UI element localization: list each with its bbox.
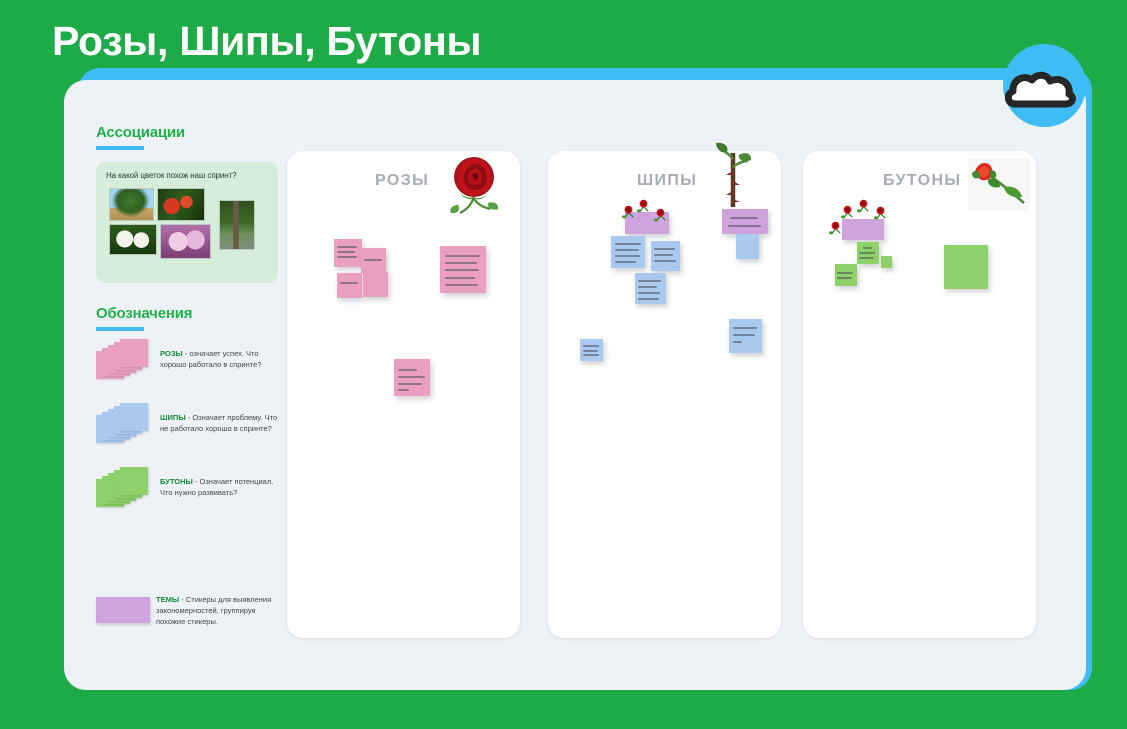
thorn-stem-icon [713,141,753,207]
legend-section: Обозначения РОЗЫ - означает успех. Что х… [96,305,286,637]
note-roses-5[interactable] [440,246,486,293]
sidebar: Ассоциации На какой цветок похож наш спр… [96,124,286,637]
legend-themes-term: ТЕМЫ [156,595,179,604]
associations-heading: Ассоциации [96,124,286,141]
themes-sticky-icon [96,597,150,623]
rose-icon [446,153,502,215]
note-buds-1[interactable] [857,242,879,264]
photo-park-tree[interactable] [219,200,255,250]
legend-buds-text: БУТОНЫ - Означает потенциал. Что нужно р… [154,465,278,499]
column-thorns-title: ШИПЫ [637,172,697,190]
legend-roses-text: РОЗЫ - означает успех. Что хорошо работа… [154,337,278,371]
note-roses-2[interactable] [361,248,386,273]
legend-item-roses: РОЗЫ - означает успех. Что хорошо работа… [96,337,286,395]
rose-decoration-icon [621,204,636,219]
photo-red-bromeliad[interactable] [157,188,205,221]
rose-decoration-icon [653,207,668,222]
theme-card-thorns-2[interactable] [722,209,768,234]
associations-section: Ассоциации На какой цветок похож наш спр… [96,124,286,283]
legend-item-thorns: ШИПЫ - Означает проблему. Что не работал… [96,401,286,459]
column-buds-title: БУТОНЫ [883,172,962,190]
associations-question: На какой цветок похож наш спринт? [106,171,268,180]
note-thorns-1[interactable] [611,236,645,268]
column-roses-title: РОЗЫ [375,172,429,190]
note-thorns-4[interactable] [736,234,759,259]
legend-item-themes: ТЕМЫ - Стикеры для выявления закономерно… [96,591,286,637]
associations-heading-rule [96,146,144,150]
column-roses[interactable]: РОЗЫ [287,151,520,638]
note-thorns-6[interactable] [729,319,762,353]
legend-thorns-term: ШИПЫ [160,413,186,422]
photo-tree[interactable] [109,188,154,221]
note-roses-6[interactable] [394,359,430,396]
legend-thorns-text: ШИПЫ - Означает проблему. Что не работал… [154,401,278,435]
associations-card[interactable]: На какой цветок похож наш спринт? [96,162,278,283]
legend-heading-rule [96,327,144,331]
page-title: Розы, Шипы, Бутоны [52,18,481,65]
column-thorns[interactable]: ШИПЫ [548,151,781,638]
rose-decoration-icon [856,198,871,213]
note-roses-3[interactable] [337,273,362,298]
theme-card-buds-1[interactable] [842,219,884,240]
cloud-icon[interactable] [1005,70,1077,108]
rose-decoration-icon [636,198,651,213]
note-buds-2[interactable] [881,256,892,268]
note-buds-4[interactable] [944,245,988,289]
rosebud-icon [968,159,1030,211]
thorns-sticky-stack-icon [96,401,154,453]
note-roses-1[interactable] [334,239,362,267]
note-buds-3[interactable] [835,264,857,286]
rose-decoration-icon [840,204,855,219]
note-thorns-5[interactable] [580,339,603,361]
note-thorns-2[interactable] [651,241,680,271]
rose-decoration-icon [873,205,888,220]
buds-sticky-stack-icon [96,465,154,517]
legend-roses-term: РОЗЫ [160,349,183,358]
roses-sticky-stack-icon [96,337,154,389]
note-thorns-3[interactable] [635,273,666,304]
photo-pink-orchid[interactable] [160,224,211,259]
note-roses-4[interactable] [363,272,388,297]
legend-themes-text: ТЕМЫ - Стикеры для выявления закономерно… [150,591,274,628]
rose-decoration-icon [828,220,843,235]
legend-item-buds: БУТОНЫ - Означает потенциал. Что нужно р… [96,465,286,523]
photo-white-trillium[interactable] [109,224,157,255]
legend-heading: Обозначения [96,305,286,322]
legend-buds-term: БУТОНЫ [160,477,193,486]
column-buds[interactable]: БУТОНЫ [803,151,1036,638]
